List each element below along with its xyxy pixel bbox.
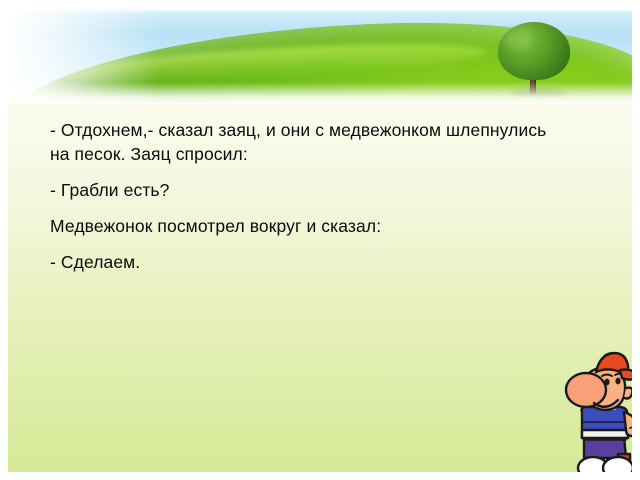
header-banner-image [8,8,632,104]
paragraph-1: - Отдохнем,- сказал заяц, и они с медвеж… [50,118,556,166]
slide-text-body: - Отдохнем,- сказал заяц, и они с медвеж… [50,118,556,274]
paragraph-3: Медвежонок посмотрел вокруг и сказал: [50,214,556,238]
banner-bottom-fade [8,82,632,104]
slide-canvas: - Отдохнем,- сказал заяц, и они с медвеж… [8,8,632,472]
cartoon-boy-illustration [560,350,632,472]
tree-crown [498,22,570,80]
paragraph-2: - Грабли есть? [50,178,556,202]
paragraph-4: - Сделаем. [50,250,556,274]
